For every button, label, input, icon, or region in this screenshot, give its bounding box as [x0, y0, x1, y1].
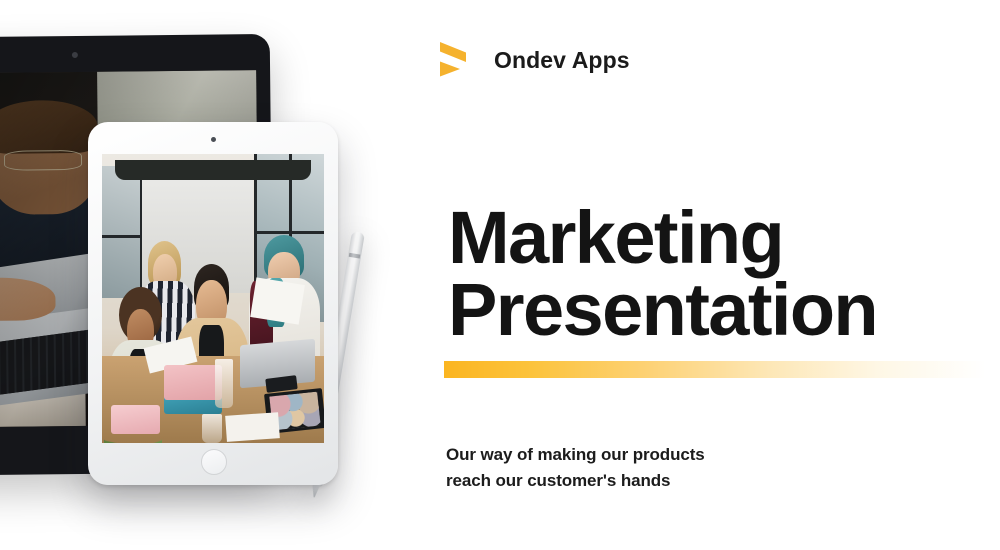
presentation-slide: Ondev Apps Marketing Presentation Our wa… [0, 0, 1000, 550]
camera-icon [211, 137, 216, 142]
brand-name: Ondev Apps [494, 47, 630, 74]
team-meeting-photo [102, 154, 324, 443]
white-tablet [88, 122, 338, 485]
subtitle: Our way of making our products reach our… [446, 442, 705, 493]
gradient-rule [444, 361, 986, 378]
headline-line-1: Marketing [448, 202, 988, 275]
brand-lockup: Ondev Apps [436, 38, 630, 82]
home-button[interactable] [201, 449, 227, 475]
subtitle-line-1: Our way of making our products [446, 442, 705, 468]
device-mockup-group [0, 0, 430, 550]
chevron-logo-icon [436, 38, 480, 82]
page-title: Marketing Presentation [448, 202, 988, 347]
white-tablet-screen [102, 154, 324, 443]
headline-line-2: Presentation [448, 274, 988, 347]
camera-icon [72, 52, 78, 58]
subtitle-line-2: reach our customer's hands [446, 468, 705, 494]
